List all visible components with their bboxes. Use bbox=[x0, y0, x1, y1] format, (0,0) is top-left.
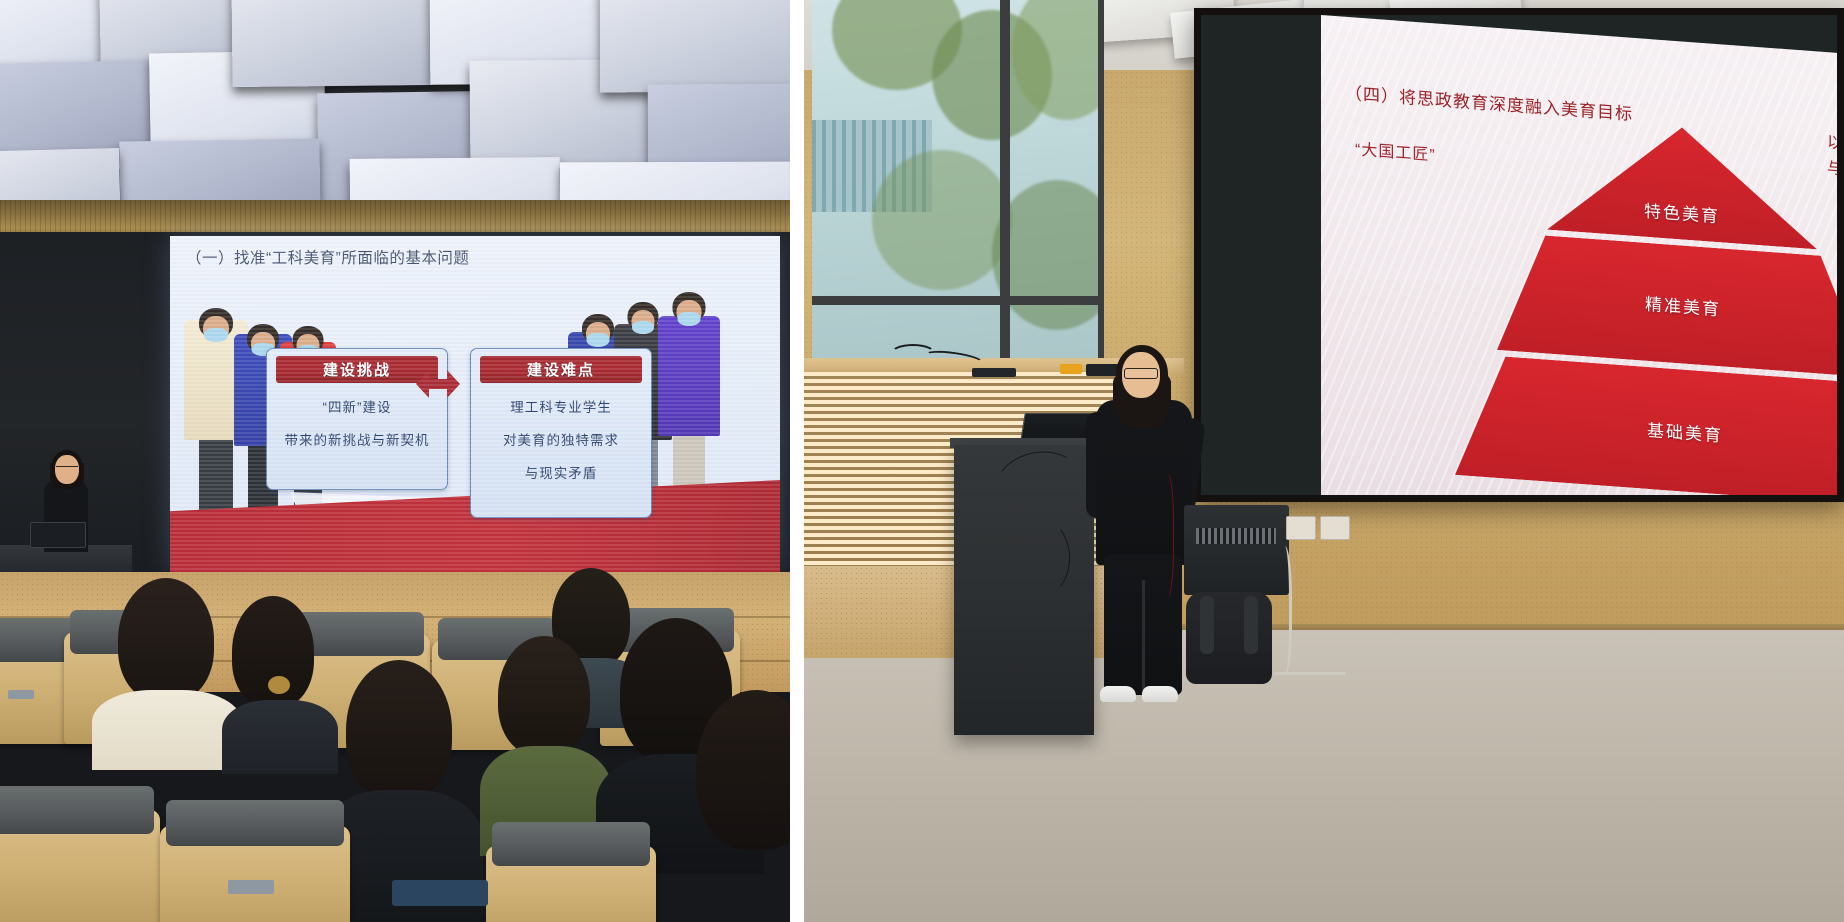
pyramid-tier-2: 精准美育 bbox=[1497, 232, 1844, 377]
audience-shoulders bbox=[222, 700, 338, 774]
pyramid-tier-3: 基础美育 bbox=[1455, 353, 1844, 502]
window bbox=[812, 0, 1104, 385]
slide-box-challenge-header: 建设挑战 bbox=[276, 356, 438, 383]
microphone-cable bbox=[1016, 520, 1070, 596]
slide-box-difficulty-header: 建设难点 bbox=[480, 356, 642, 383]
slide-box-difficulty-line-1: 理工科专业学生 bbox=[471, 396, 651, 416]
speaker-leg-gap bbox=[1142, 580, 1145, 690]
remote-device bbox=[972, 368, 1016, 377]
speaker-shoe bbox=[1100, 686, 1136, 702]
marker bbox=[1060, 364, 1082, 374]
backpack-strap bbox=[1200, 596, 1214, 654]
photo-lecture-hall-audience: （一）找准“工科美育”所面临的基本问题 bbox=[0, 0, 790, 922]
slide-title: （一）找准“工科美育”所面临的基本问题 bbox=[186, 246, 746, 268]
projection-screen-right: （四）将思政教育深度融入美育目标 “大国工匠” 以 与 特色美育 精准美育 基础… bbox=[1194, 8, 1844, 502]
slide-box-difficulty: 建设难点 理工科专业学生 对美育的独特需求 与现实矛盾 bbox=[470, 348, 652, 518]
double-headed-arrow-icon bbox=[416, 364, 460, 404]
seat-cushion bbox=[296, 612, 424, 656]
backpack-strap bbox=[1244, 596, 1258, 654]
seat-cushion bbox=[166, 800, 344, 846]
lecturer-laptop bbox=[30, 522, 86, 548]
pyramid-diagram: 特色美育 精准美育 基础美育 bbox=[1471, 112, 1844, 502]
seat-cushion bbox=[492, 822, 650, 866]
lecturer-glasses-icon bbox=[56, 466, 78, 472]
wall-outlet[interactable] bbox=[1320, 516, 1350, 540]
slide-left: （一）找准“工科美育”所面临的基本问题 bbox=[170, 236, 780, 572]
seat-tag bbox=[228, 880, 274, 894]
seat-tag bbox=[8, 690, 34, 699]
audience-head bbox=[498, 636, 590, 756]
floor-cable bbox=[1274, 672, 1346, 675]
two-photo-collage: （一）找准“工科美育”所面临的基本问题 bbox=[0, 0, 1844, 922]
audience-head bbox=[346, 660, 452, 800]
acoustic-ceiling bbox=[0, 0, 790, 210]
device-screen bbox=[392, 880, 488, 906]
audience-hair-tie bbox=[268, 676, 290, 694]
photo-presenter-at-podium: （四）将思政教育深度融入美育目标 “大国工匠” 以 与 特色美育 精准美育 基础… bbox=[804, 0, 1844, 922]
amplifier-grill bbox=[1196, 528, 1276, 544]
audience-shoulders bbox=[92, 690, 242, 770]
projection-screen-left: （一）找准“工科美育”所面临的基本问题 bbox=[170, 236, 780, 572]
slide-box-difficulty-line-3: 与现实矛盾 bbox=[471, 462, 651, 482]
seat-cushion bbox=[0, 786, 154, 834]
slide-box-challenge-line-2: 带来的新挑战与新契机 bbox=[267, 429, 447, 449]
glasses-icon bbox=[1124, 368, 1158, 379]
pyramid-tier-1: 特色美育 bbox=[1547, 118, 1817, 250]
slide-right: （四）将思政教育深度融入美育目标 “大国工匠” 以 与 特色美育 精准美育 基础… bbox=[1321, 15, 1844, 502]
backpack bbox=[1186, 592, 1272, 684]
speaker-shoe bbox=[1142, 686, 1178, 702]
audience-head bbox=[118, 578, 214, 702]
photo-divider bbox=[790, 0, 804, 922]
floor-cable bbox=[1274, 546, 1292, 676]
slide-box-difficulty-line-2: 对美育的独特需求 bbox=[471, 429, 651, 449]
lapel-mic-cable bbox=[1156, 470, 1174, 600]
wall-outlet[interactable] bbox=[1286, 516, 1316, 540]
